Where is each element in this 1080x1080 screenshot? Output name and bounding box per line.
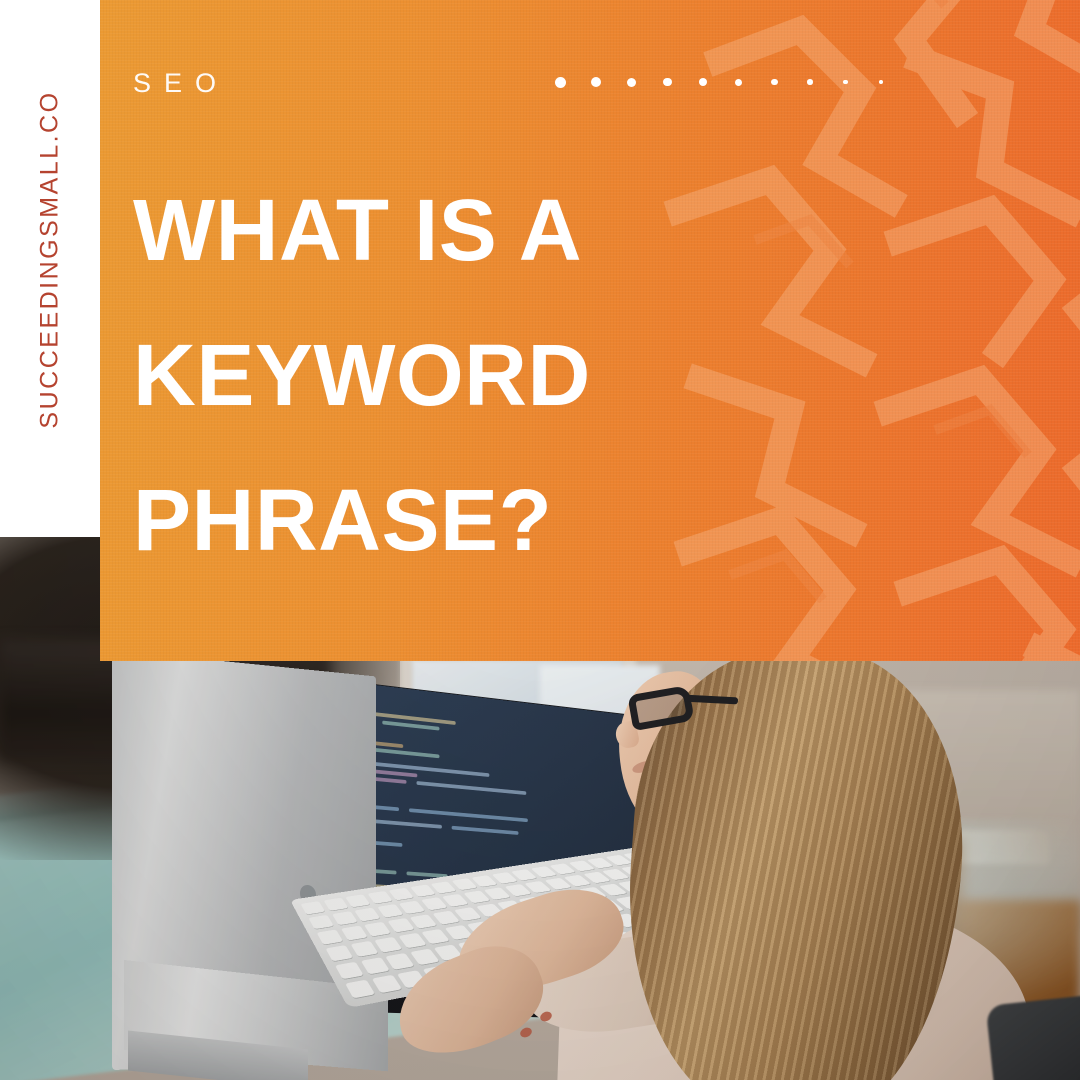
photo-keyboard-key — [410, 885, 435, 897]
photo-keyboard-key — [345, 894, 370, 907]
headline-line-2: KEYWORD — [133, 303, 853, 448]
headline-line-1: WHAT IS A — [133, 158, 853, 303]
photo-keyboard-key — [350, 941, 378, 957]
photo-keyboard-key — [332, 911, 358, 925]
photo-keyboard-key — [410, 914, 437, 928]
photo-keyboard-key — [374, 937, 402, 953]
category-kicker: SEO — [133, 68, 229, 99]
photo-keyboard-key — [399, 901, 425, 914]
photo-keyboard-key — [385, 953, 414, 970]
brand-sidebar-inner: SUCCEEDINGSMALL.CO — [0, 0, 100, 537]
photo-keyboard-key — [335, 962, 364, 979]
brand-url-vertical: SUCCEEDINGSMALL.CO — [36, 25, 65, 495]
photo-keyboard-key — [454, 907, 482, 921]
social-post-canvas: SEO WHAT IS A KEYWORD PHRASE? SUCCEEDING… — [0, 0, 1080, 1080]
decorative-dot — [807, 79, 813, 85]
photo-keyboard-key — [387, 918, 414, 933]
photo-keyboard-key — [421, 897, 447, 910]
photo-code-line — [409, 808, 528, 822]
decorative-dot — [735, 79, 742, 86]
photo-keyboard-key — [367, 891, 392, 904]
photo-code-line — [374, 777, 406, 784]
photo-keyboard-key — [301, 901, 326, 914]
photo-code-line — [452, 826, 519, 835]
decorative-dot — [699, 78, 707, 86]
photo-keyboard-key — [432, 911, 459, 925]
headline-line-3: PHRASE? — [133, 448, 853, 593]
photo-code-line — [416, 781, 526, 795]
photo-keyboard-key — [345, 980, 375, 999]
photo-keyboard-key — [442, 894, 469, 907]
orange-banner: SEO WHAT IS A KEYWORD PHRASE? — [100, 0, 1080, 661]
decorative-dot — [879, 80, 883, 84]
decorative-dot — [663, 78, 672, 87]
photo-keyboard-key — [323, 898, 348, 911]
photo-keyboard-key — [421, 929, 449, 944]
photo-keyboard-key — [340, 926, 367, 941]
decorative-dot — [843, 80, 848, 85]
brand-sidebar: SUCCEEDINGSMALL.CO — [0, 0, 100, 537]
decorative-dot — [591, 77, 601, 87]
photo-keyboard-key — [354, 908, 380, 922]
decorative-dot — [627, 78, 636, 87]
page-title: WHAT IS A KEYWORD PHRASE? — [133, 158, 853, 593]
decorative-dot — [555, 77, 566, 88]
photo-keyboard-key — [360, 957, 389, 974]
photo-keyboard-key — [398, 933, 426, 948]
photo-chair — [986, 994, 1080, 1080]
photo-keyboard-key — [317, 930, 344, 945]
photo-keyboard-key — [431, 881, 457, 893]
photo-keyboard-key — [377, 904, 403, 918]
photo-keyboard-key — [364, 922, 391, 937]
decorative-dots-row — [555, 72, 915, 92]
photo-keyboard-key — [325, 945, 353, 961]
decorative-dot — [771, 79, 778, 86]
photo-keyboard-key — [410, 949, 439, 966]
photo-keyboard-key — [389, 888, 414, 901]
photo-keyboard-key — [371, 975, 401, 993]
photo-keyboard-key — [308, 915, 334, 929]
